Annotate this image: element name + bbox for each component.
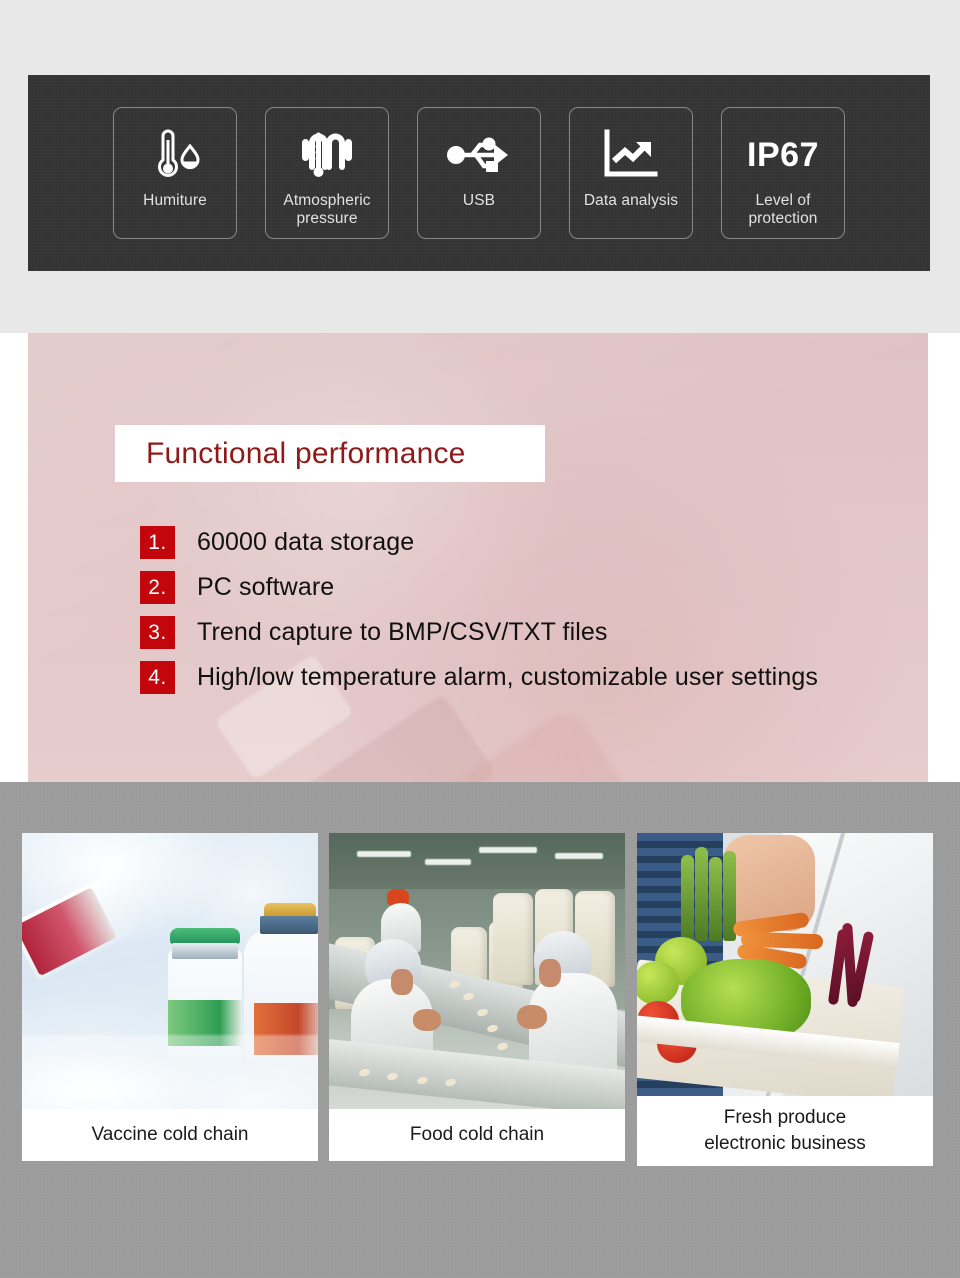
list-item-label: Trend capture to BMP/CSV/TXT files (197, 618, 608, 647)
thermometer-humidity-icon (143, 122, 207, 188)
feature-label: USB (463, 192, 495, 210)
list-item-number: 1. (140, 526, 175, 559)
list-item-number: 4. (140, 661, 175, 694)
list-item-number: 2. (140, 571, 175, 604)
feature-card-usb: USB (417, 107, 541, 239)
feature-icon-panel: Humiture (28, 75, 930, 271)
ip-rating-value: IP67 (747, 122, 819, 188)
performance-feature-list: 1. 60000 data storage 2. PC software 3. … (140, 520, 928, 700)
list-item: 2. PC software (140, 565, 928, 610)
feature-card-atmospheric-pressure: Atmospheric pressure (265, 107, 389, 239)
application-card-vaccine: Vaccine cold chain (22, 833, 318, 1161)
application-card-fresh-produce: Fresh produce electronic business (637, 833, 933, 1166)
usb-icon (442, 122, 516, 188)
feature-label: Data analysis (584, 192, 678, 210)
functional-performance-section: UNI-T Temperature IP67 Functional perfor… (28, 333, 928, 782)
snow-foreground (22, 1035, 318, 1109)
performance-heading-box: Functional performance (115, 425, 545, 482)
food-factory-conveyor-photo (329, 833, 625, 1109)
list-item-label: PC software (197, 573, 334, 602)
caption-line2: electronic business (704, 1133, 866, 1154)
page-title: Functional performance (115, 437, 466, 471)
application-card-food: Food cold chain (329, 833, 625, 1161)
application-scenarios-section: Vaccine cold chain (0, 782, 960, 1278)
list-item-number: 3. (140, 616, 175, 649)
vaccine-vials-on-ice-photo (22, 833, 318, 1109)
feature-label-line2: protection (748, 210, 817, 227)
feature-label-line1: Level of (755, 192, 810, 209)
application-caption: Fresh produce electronic business (637, 1096, 933, 1166)
feature-highlight-section: Humiture (0, 0, 960, 333)
list-item: 4. High/low temperature alarm, customiza… (140, 655, 928, 700)
list-item-label: 60000 data storage (197, 528, 414, 557)
fresh-vegetable-crate-photo (637, 833, 933, 1096)
list-item: 3. Trend capture to BMP/CSV/TXT files (140, 610, 928, 655)
feature-label-line1: Atmospheric (283, 192, 370, 209)
product-feature-page: Humiture (0, 0, 960, 1278)
caption-line1: Fresh produce (724, 1107, 847, 1128)
list-item: 1. 60000 data storage (140, 520, 928, 565)
list-item-label: High/low temperature alarm, customizable… (197, 663, 818, 692)
feature-label: Level of protection (748, 192, 817, 228)
ip-rating-text: IP67 (747, 124, 819, 186)
feature-label: Humiture (143, 192, 207, 210)
application-caption: Food cold chain (329, 1109, 625, 1161)
feature-card-humiture: Humiture (113, 107, 237, 239)
application-caption: Vaccine cold chain (22, 1109, 318, 1161)
barometer-icon (294, 122, 360, 188)
feature-card-ip-rating: IP67 Level of protection (721, 107, 845, 239)
chart-trend-icon (600, 122, 662, 188)
feature-label: Atmospheric pressure (283, 192, 370, 228)
feature-card-data-analysis: Data analysis (569, 107, 693, 239)
feature-label-line2: pressure (296, 210, 357, 227)
vaccine-vial (22, 869, 147, 981)
